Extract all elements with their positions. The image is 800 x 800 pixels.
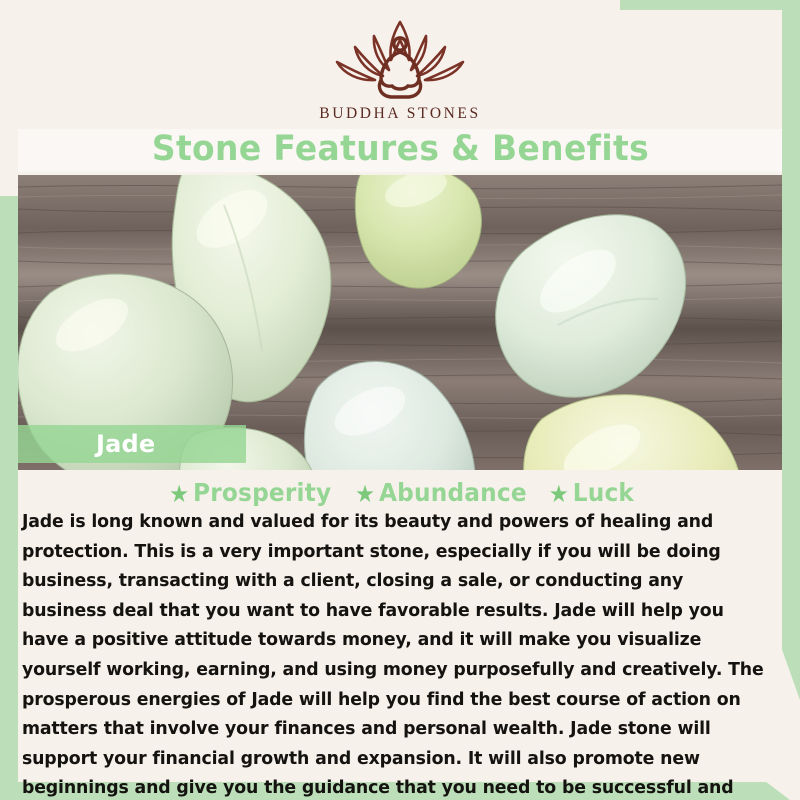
frame-accent-right — [780, 0, 800, 700]
keyword-luck: ★Luck — [537, 478, 633, 507]
keyword-abundance-label: Abundance — [379, 478, 527, 507]
brand-logo: BUDDHA STONES — [18, 18, 782, 123]
lotus-meditation-icon — [325, 18, 475, 102]
star-icon: ★ — [549, 480, 569, 508]
stone-name-badge: Jade — [18, 425, 246, 463]
frame-accent-left — [0, 196, 18, 784]
keyword-list: ★Prosperity★Abundance★Luck — [18, 478, 782, 507]
keyword-luck-label: Luck — [572, 478, 633, 507]
brand-name: BUDDHA STONES — [18, 105, 782, 123]
content-card: BUDDHA STONES Stone Features & Benefits — [18, 10, 782, 782]
star-icon: ★ — [355, 480, 375, 508]
star-icon: ★ — [169, 480, 189, 508]
page-title: Stone Features & Benefits — [18, 129, 782, 172]
keyword-abundance: ★Abundance — [344, 478, 527, 507]
header: BUDDHA STONES Stone Features & Benefits — [18, 10, 782, 175]
stone-name-text: Jade — [96, 430, 155, 458]
keyword-prosperity: ★Prosperity — [169, 478, 331, 507]
keyword-prosperity-label: Prosperity — [193, 478, 331, 507]
page-title-text: Stone Features & Benefits — [151, 131, 648, 168]
stone-description: Jade is long known and valued for its be… — [18, 508, 771, 800]
poster: BUDDHA STONES Stone Features & Benefits — [0, 0, 800, 800]
